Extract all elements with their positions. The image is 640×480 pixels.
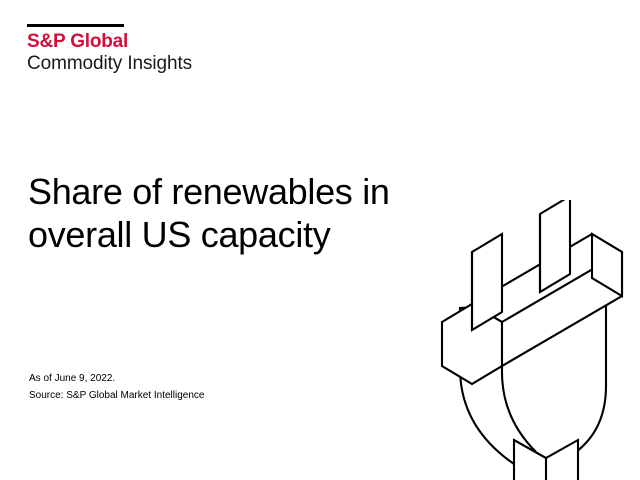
plug-illustration — [430, 200, 640, 480]
electrical-plug-icon — [430, 200, 640, 480]
brand-lockup: S&P Global Commodity Insights — [27, 24, 287, 75]
brand-name-primary: S&P Global — [27, 31, 287, 52]
source-attribution: Source: S&P Global Market Intelligence — [29, 387, 204, 404]
page-title-line-2: overall US capacity — [28, 213, 448, 256]
page-title: Share of renewables in overall US capaci… — [28, 170, 448, 256]
brand-name-secondary: Commodity Insights — [27, 52, 287, 75]
slide-canvas: S&P Global Commodity Insights Share of r… — [0, 0, 640, 480]
footnote-block: As of June 9, 2022. Source: S&P Global M… — [29, 370, 204, 404]
page-title-line-1: Share of renewables in — [28, 170, 448, 213]
as-of-date: As of June 9, 2022. — [29, 370, 204, 387]
plug-prong-left — [472, 234, 502, 330]
brand-rule — [27, 24, 124, 27]
